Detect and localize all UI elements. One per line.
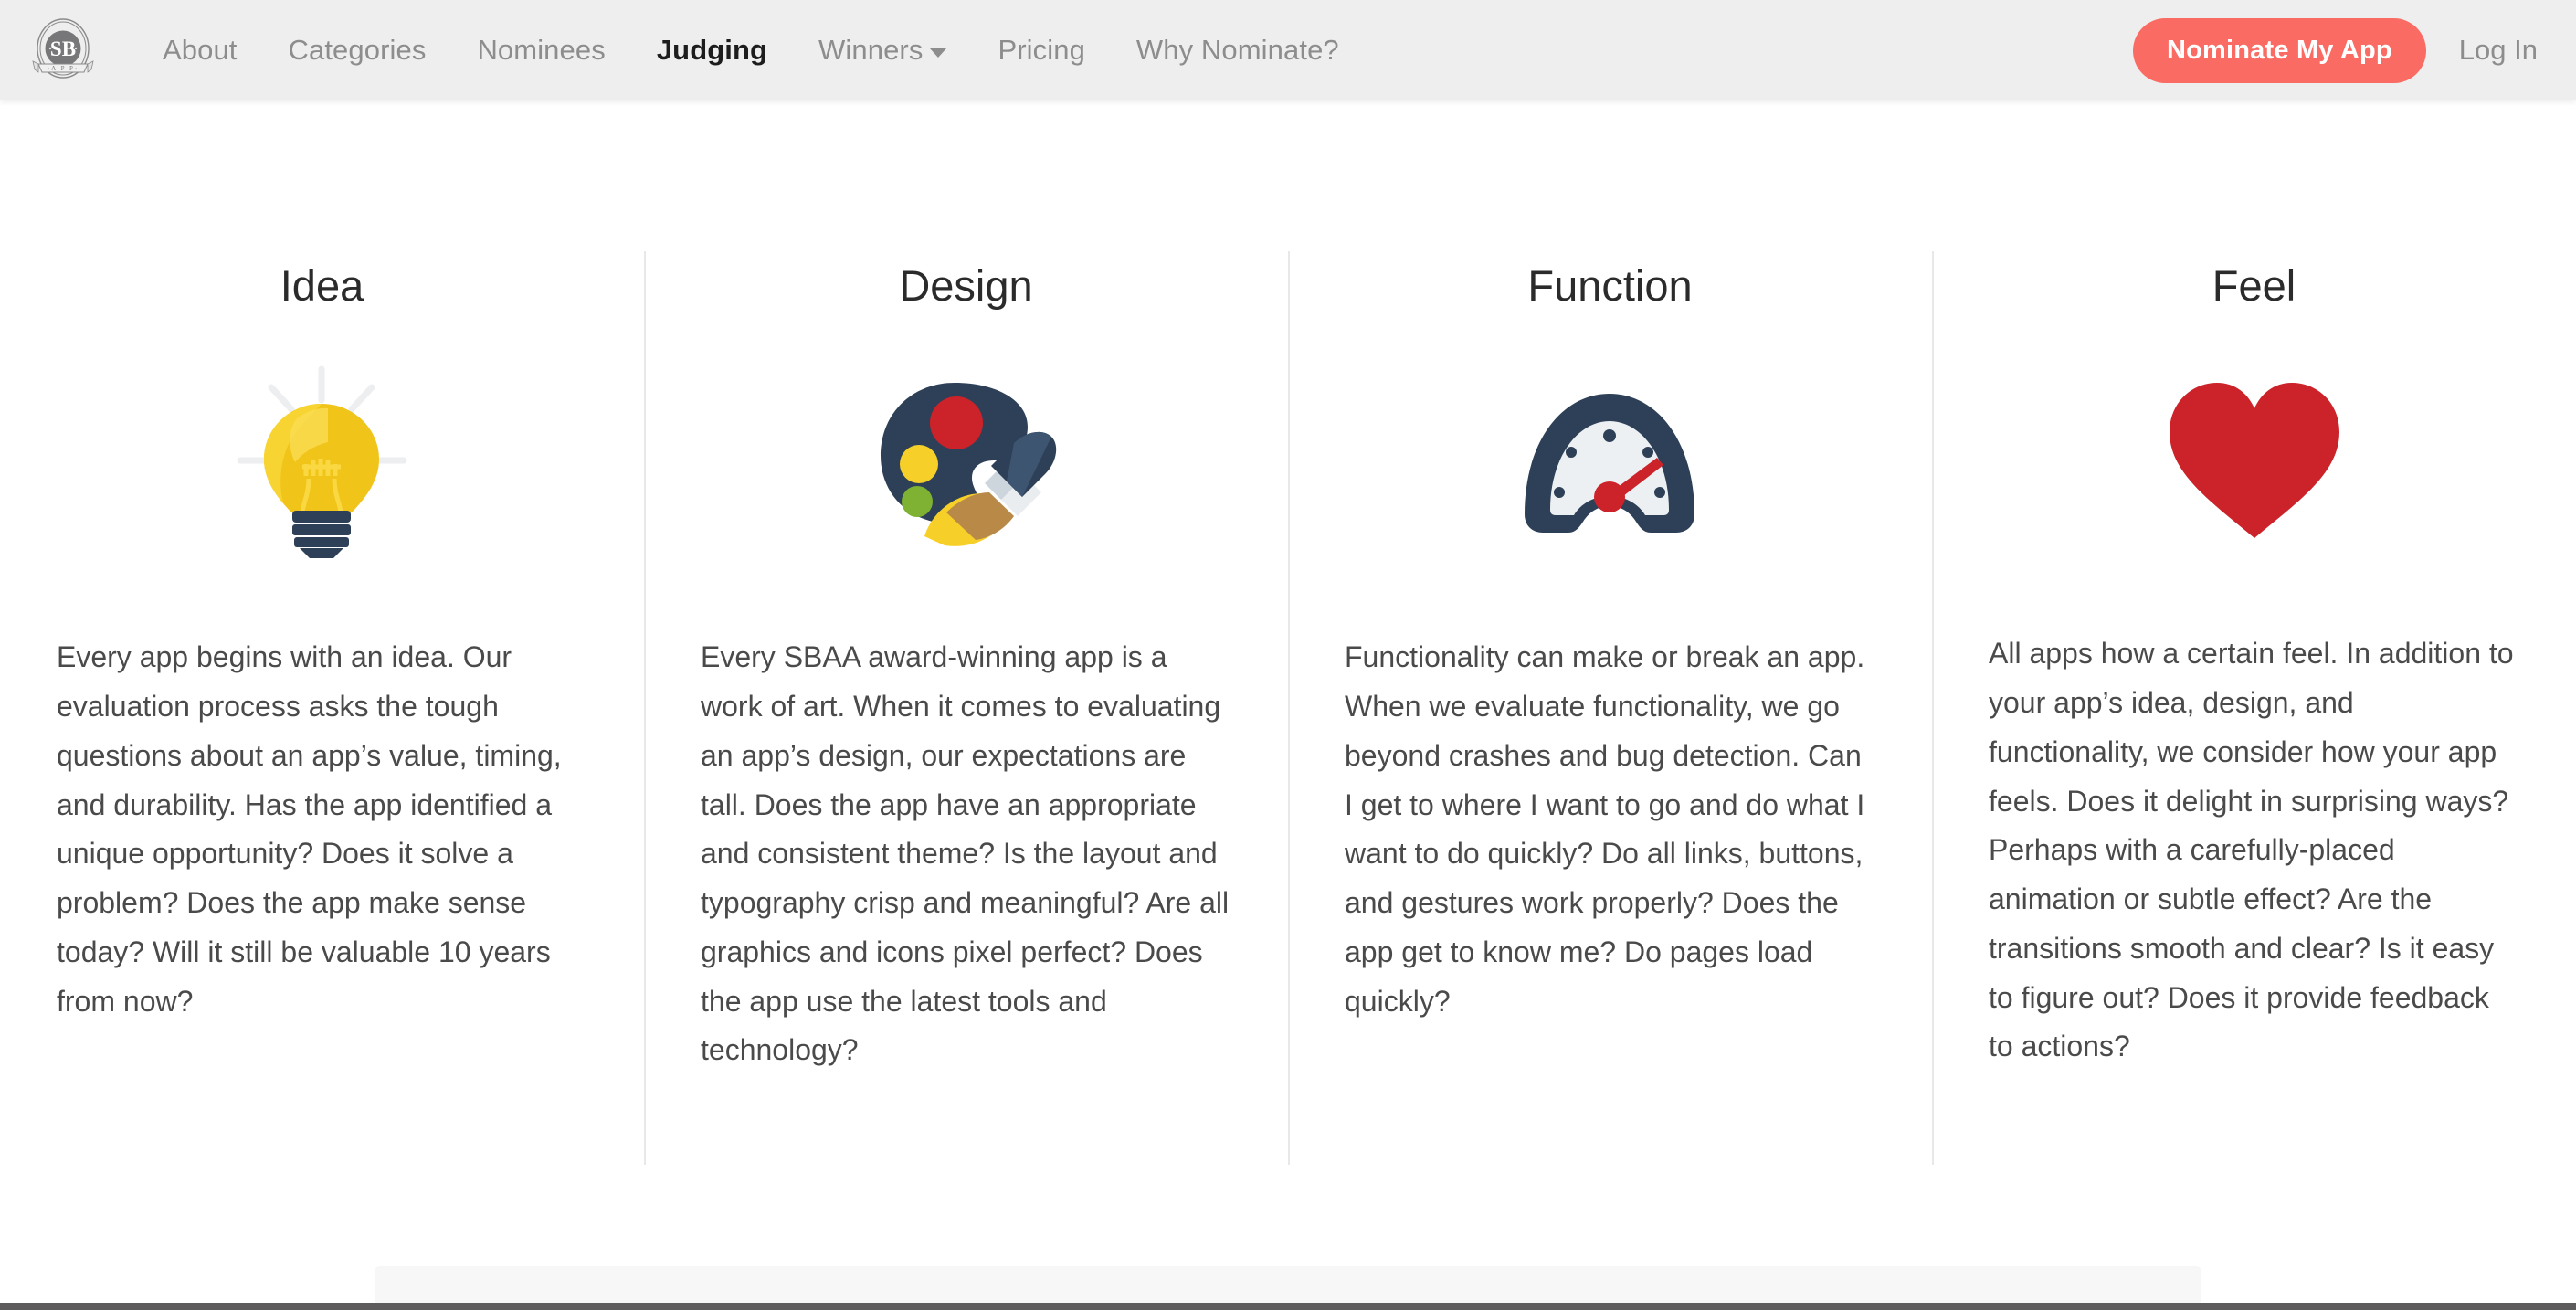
nav-link-why-nominate[interactable]: Why Nominate? bbox=[1111, 34, 1365, 67]
primary-nav-links: About Categories Nominees Judging Winner… bbox=[137, 34, 1365, 67]
nominate-my-app-button[interactable]: Nominate My App bbox=[2133, 18, 2426, 83]
nav-link-label: Winners bbox=[818, 34, 923, 67]
navbar-actions: Nominate My App Log In bbox=[2133, 18, 2576, 83]
criteria-body-text: Every SBAA award-winning app is a work o… bbox=[701, 633, 1231, 1075]
judging-criteria-columns: Idea bbox=[0, 233, 2576, 1075]
sb-app-logo[interactable]: SB ·A P P· bbox=[29, 16, 97, 84]
criteria-body-text: Functionality can make or break an app. … bbox=[1345, 633, 1875, 1026]
criteria-body-text: Every app begins with an idea. Our evalu… bbox=[57, 633, 587, 1026]
nav-link-about[interactable]: About bbox=[137, 34, 263, 67]
nav-link-label: Judging bbox=[657, 34, 767, 67]
log-in-link[interactable]: Log In bbox=[2459, 34, 2538, 67]
criteria-column-design: Design Every SBAA award-winning app is a… bbox=[644, 233, 1288, 1075]
nav-link-label: Why Nominate? bbox=[1136, 34, 1339, 67]
nav-link-categories[interactable]: Categories bbox=[263, 34, 452, 67]
sb-app-badge-logo: SB ·A P P· bbox=[29, 16, 97, 84]
nav-link-label: Nominees bbox=[477, 34, 605, 67]
paint-palette-icon bbox=[868, 359, 1064, 560]
svg-text:SB: SB bbox=[50, 37, 76, 60]
nav-link-label: Categories bbox=[289, 34, 427, 67]
criteria-title: Design bbox=[899, 260, 1032, 312]
nav-link-label: Pricing bbox=[998, 34, 1084, 67]
criteria-title: Feel bbox=[2212, 260, 2296, 312]
speedometer-gauge-icon bbox=[1512, 359, 1708, 560]
criteria-column-feel: Feel All apps how a certain feel. In add… bbox=[1932, 233, 2576, 1075]
lightbulb-icon bbox=[233, 359, 411, 560]
criteria-title: Idea bbox=[280, 260, 364, 312]
nav-link-label: About bbox=[163, 34, 238, 67]
nav-link-pricing[interactable]: Pricing bbox=[972, 34, 1110, 67]
page-bottom-edge bbox=[0, 1303, 2576, 1310]
nav-link-nominees[interactable]: Nominees bbox=[451, 34, 630, 67]
nav-link-winners[interactable]: Winners bbox=[793, 34, 972, 67]
chevron-down-icon bbox=[930, 48, 946, 58]
top-navigation-bar: SB ·A P P· About Categories Nominees Jud… bbox=[0, 0, 2576, 100]
svg-text:·A P P·: ·A P P· bbox=[48, 65, 79, 72]
criteria-column-function: Function Functionality can make or break… bbox=[1288, 233, 1932, 1075]
criteria-column-idea: Idea bbox=[0, 233, 644, 1075]
next-section-panel bbox=[375, 1266, 2201, 1306]
heart-icon bbox=[2159, 359, 2350, 560]
nav-link-judging[interactable]: Judging bbox=[631, 34, 793, 67]
criteria-title: Function bbox=[1527, 260, 1692, 312]
criteria-body-text: All apps how a certain feel. In addition… bbox=[1989, 629, 2519, 1072]
